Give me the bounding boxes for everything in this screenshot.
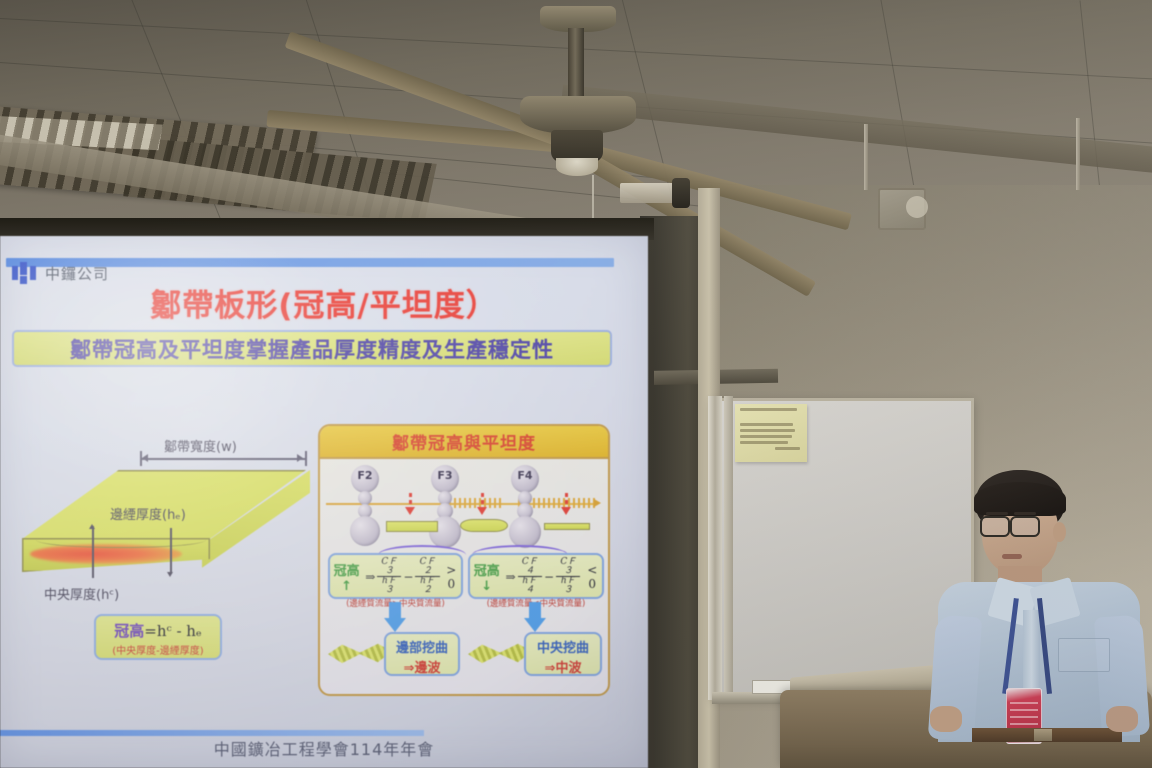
crown-formula-box: 冠高=hᶜ - hₑ (中央厚度-邊緸厚度): [94, 614, 222, 660]
whiteboard-notice-paper: [735, 404, 807, 462]
fraction-1b: CＦ２ hＦ２: [415, 558, 439, 595]
comparison-1: > 0: [442, 563, 461, 591]
strip-cross-section-2-crowned: [460, 519, 508, 532]
belt-buckle: [1034, 729, 1052, 741]
center-wave-label: ⇒中波: [526, 657, 600, 676]
slide-subtitle-banner: 酁帶冠高及平坦度掌握產品厚度精度及生產穩定性: [12, 330, 612, 367]
slide-title: 酁帶板形(冠高/平坦度）: [0, 280, 648, 325]
implies-symbol-1: ⇒: [365, 570, 375, 584]
edge-wave-label: ⇒邊波: [386, 657, 458, 676]
crown-flatness-panel: 酁帶冠高與平坦度 F2 F3: [318, 424, 610, 696]
crown-formula-note: (中央厚度-邊緸厚度): [96, 642, 220, 657]
glasses-lens-left-icon: [980, 516, 1010, 537]
ceiling-projector: [620, 183, 678, 203]
minus-symbol-2: −: [544, 570, 554, 584]
presenter-ear: [1053, 522, 1066, 542]
presenter-eyebrow-left: [986, 512, 1008, 515]
glasses-lens-right-icon: [1010, 516, 1040, 537]
fraction-1a: CＦ３ hＦ３: [377, 558, 401, 595]
presenter-mouth: [1002, 554, 1022, 559]
presenter-hair-front: [974, 482, 1066, 516]
crown-increase-term: 冠高↑: [330, 560, 363, 594]
panel-header-text: 酁帶冠高與平坦度: [392, 429, 536, 454]
slide-subtitle-text: 酁帶冠高及平坦度掌握產品厚度精度及生產穩定性: [70, 334, 554, 364]
presenter: [930, 470, 1152, 768]
crown-formula-expression: 冠高=hᶜ - hₑ: [96, 620, 220, 641]
slab-crown-profile-curve: [36, 532, 206, 548]
fan-downrod: [568, 28, 584, 104]
center-thickness-label: 中央厚度(hᶜ): [44, 584, 119, 603]
crown-formula-crown-term: 冠高: [114, 622, 144, 640]
mill-stand-f2: F2: [348, 465, 382, 543]
mill-stand-f4: F4: [508, 465, 542, 543]
crown-increase-expression: 冠高↑ ⇒ CＦ３ hＦ３ − CＦ２ hＦ２ > 0: [330, 558, 461, 595]
projector-speaker: [672, 178, 690, 208]
wall-clock-dial: [906, 196, 928, 218]
strip-cross-section-1: [386, 521, 438, 532]
down-arrow-icon-blue-1: [384, 602, 406, 632]
crown-decrease-expression: 冠高↓ ⇒ CＦ４ hＦ４ − CＦ３ hＦ３ < 0: [470, 558, 602, 595]
presenter-eyebrow-right: [1014, 512, 1036, 515]
slide-footer-text: 中國鑛冶工程學會114年年會: [0, 736, 648, 760]
fan-light-bulb: [556, 158, 598, 176]
crown-formula-rhs: =hᶜ - hₑ: [144, 622, 202, 640]
presenter-hand-right: [1106, 706, 1138, 732]
steel-slab-3d: [22, 470, 306, 594]
strip-width-dimension-line: [140, 458, 306, 460]
mill-stand-label-f3: F3: [428, 469, 462, 482]
implies-symbol-2: ⇒: [506, 570, 516, 584]
mill-stand-label-f2: F2: [348, 469, 382, 482]
strip-width-label: 酁帶寬度(w): [164, 436, 237, 455]
crown-decrease-formula-box: 冠高↓ ⇒ CＦ４ hＦ４ − CＦ３ hＦ３ < 0 (邊緸質流量<: [468, 553, 604, 599]
rolling-mill-diagram: F2 F3 F4: [320, 459, 610, 549]
minus-symbol-1: −: [403, 570, 413, 584]
edge-thickness-label: 邊緸厚度(hₑ): [110, 504, 186, 523]
whiteboard-frame-left-inner: [724, 396, 733, 700]
mill-stand-label-f4: F4: [508, 469, 542, 482]
comparison-2: < 0: [582, 563, 602, 591]
center-thickness-leader: [92, 526, 94, 578]
edge-thickness-leader: [170, 528, 172, 574]
whiteboard-frame-left: [708, 396, 722, 700]
fan-motor-housing: [520, 96, 636, 134]
projection-screen: 中鑼公司 酁帶板形(冠高/平坦度） 酁帶冠高及平坦度掌握產品厚度精度及生產穩定性…: [0, 236, 648, 768]
presenter-hand-left: [930, 706, 962, 732]
down-arrow-icon-blue-2: [524, 602, 546, 632]
strip-crown-3d-figure: 酁帶寬度(w) 邊緸厚度(hₑ) 中央厚度(hᶜ): [14, 436, 314, 696]
ceiling-support-rod-2: [1076, 118, 1080, 190]
edge-wave-sheet-illustration: [328, 636, 392, 670]
center-buckle-label: 中央挖曲: [526, 637, 600, 656]
presentation-photo-scene: 中鑼公司 酁帶板形(冠高/平坦度） 酁帶冠高及平坦度掌握產品厚度精度及生產穩定性…: [0, 0, 1152, 768]
crown-increase-formula-box: 冠高↑ ⇒ CＦ３ hＦ３ − CＦ２ hＦ２ > 0 (邊緸質流量>: [328, 553, 463, 599]
shirt-pocket: [1058, 638, 1110, 672]
strip-cross-section-3-flat: [544, 523, 590, 530]
center-buckle-result-box: 中央挖曲 ⇒中波: [524, 632, 602, 676]
panel-header: 酁帶冠高與平坦度: [320, 426, 608, 459]
fraction-2a: CＦ４ hＦ４: [518, 558, 542, 595]
edge-buckle-result-box: 邊部挖曲 ⇒邊波: [384, 632, 460, 676]
edge-buckle-label: 邊部挖曲: [386, 637, 458, 656]
ceiling-support-rod-1: [864, 124, 868, 190]
center-wave-sheet-illustration: [468, 636, 532, 670]
crown-decrease-term: 冠高↓: [470, 560, 504, 594]
slide: 中鑼公司 酁帶板形(冠高/平坦度） 酁帶冠高及平坦度掌握產品厚度精度及生產穩定性…: [0, 236, 648, 768]
fraction-2b: CＦ３ hＦ３: [556, 558, 580, 595]
